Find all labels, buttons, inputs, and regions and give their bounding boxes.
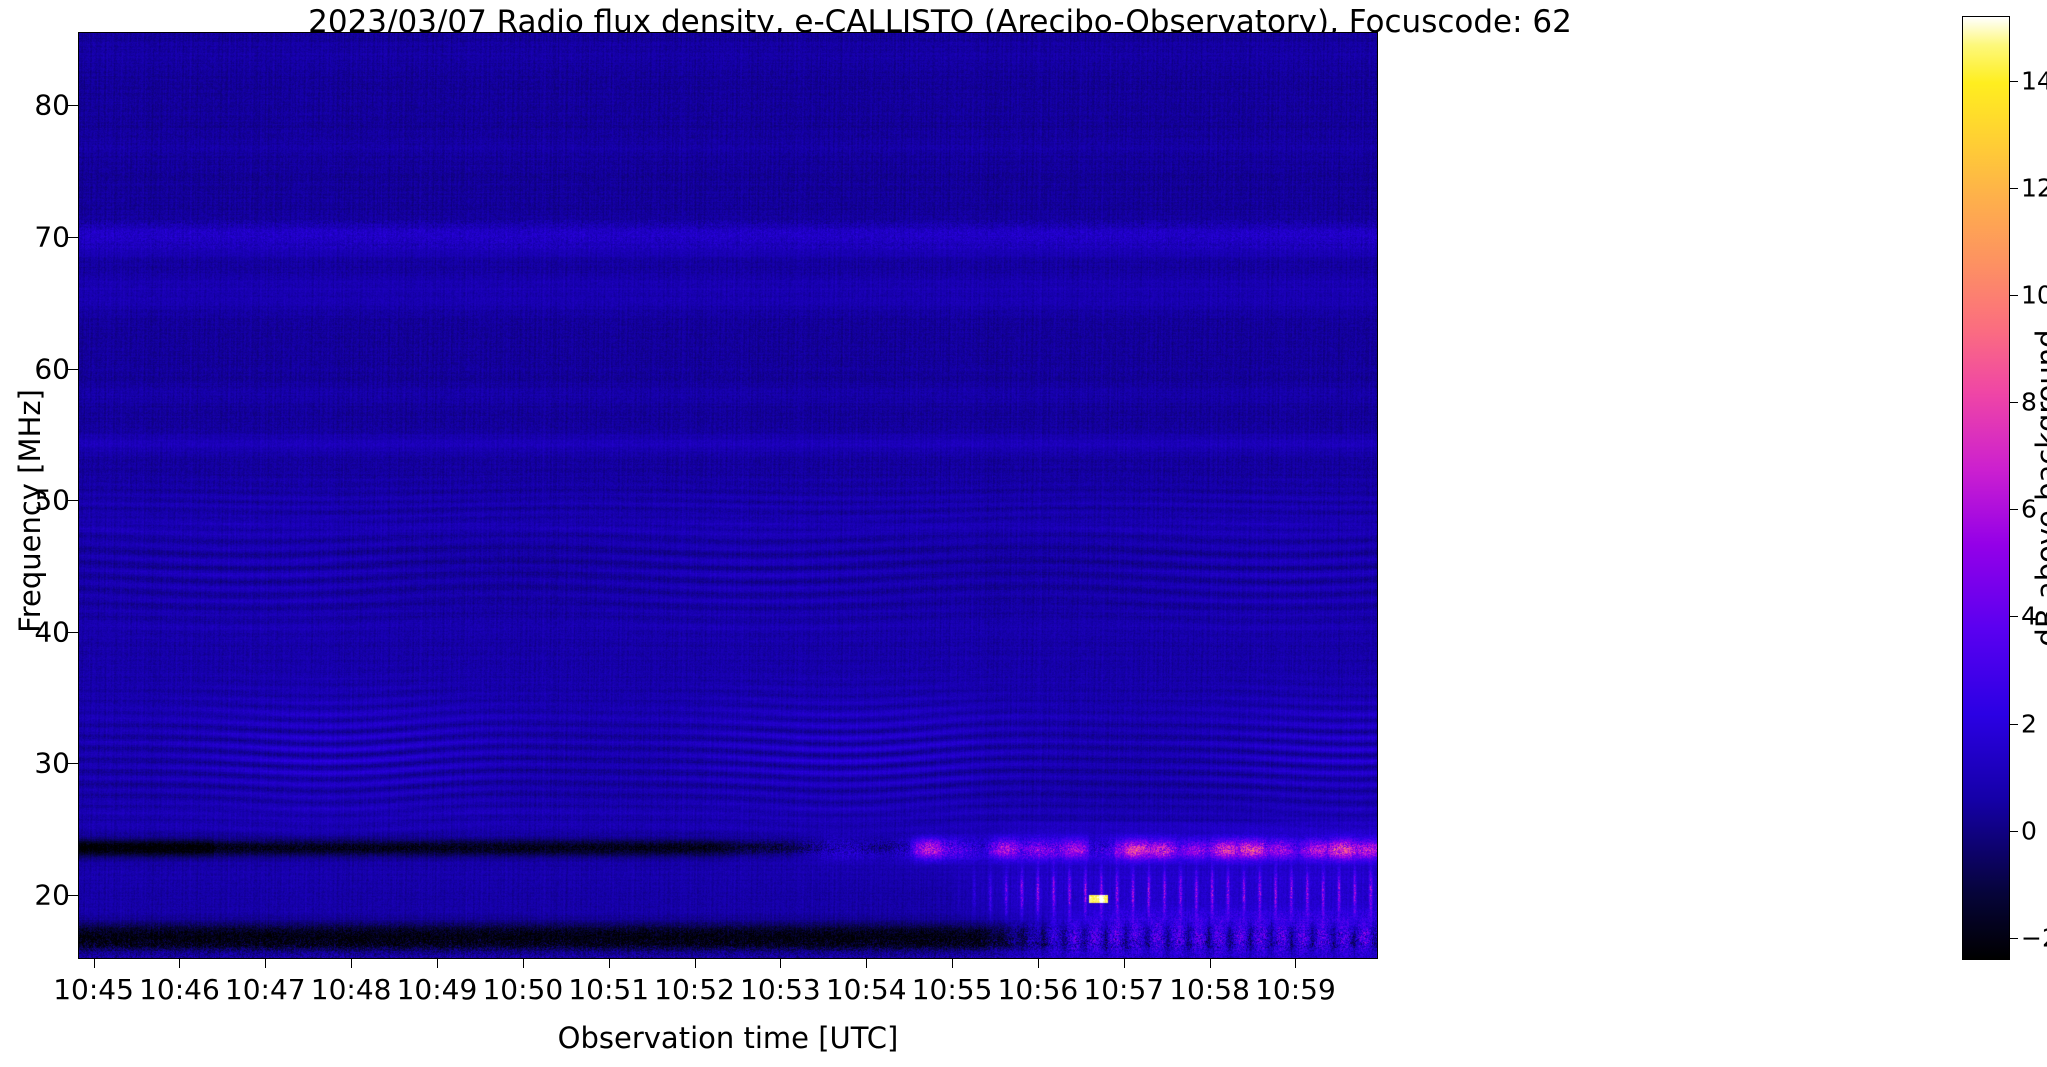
colorbar-tick-label: 10 (2021, 281, 2047, 310)
y-axis-tick-label: 30 (34, 747, 70, 780)
x-axis-tick-mark (780, 958, 781, 968)
x-axis-tick-label: 10:45 (53, 973, 134, 1006)
x-axis-tick-mark (952, 958, 953, 968)
colorbar-tick-label: −2 (2021, 923, 2047, 952)
colorbar-tick-mark (2009, 831, 2018, 832)
x-axis-tick-label: 10:55 (912, 973, 993, 1006)
x-axis-tick-label: 10:56 (998, 973, 1079, 1006)
y-axis-tick-label: 70 (34, 220, 70, 253)
x-axis-tick-mark (1210, 958, 1211, 968)
colorbar-gradient (1963, 17, 2009, 959)
x-axis-label: Observation time [UTC] (78, 1021, 1378, 1055)
x-axis-tick-mark (523, 958, 524, 968)
colorbar-label: dB above background (2030, 329, 2047, 646)
x-axis-tick-mark (437, 958, 438, 968)
colorbar-tick-mark (2009, 402, 2018, 403)
x-axis-tick-label: 10:57 (1083, 973, 1164, 1006)
colorbar-tick-label: 2 (2021, 709, 2037, 738)
x-axis-tick-mark (609, 958, 610, 968)
x-axis-tick-mark (866, 958, 867, 968)
x-axis-tick-label: 10:53 (740, 973, 821, 1006)
y-axis-tick-label: 20 (34, 878, 70, 911)
colorbar-tick-mark (2009, 188, 2018, 189)
x-axis-tick-mark (695, 958, 696, 968)
colorbar-tick-label: 0 (2021, 816, 2037, 845)
x-axis-tick-mark (351, 958, 352, 968)
x-axis-tick-mark (1038, 958, 1039, 968)
x-axis-tick-label: 10:51 (568, 973, 649, 1006)
spectrogram-axes[interactable] (78, 32, 1378, 959)
x-axis-tick-mark (1124, 958, 1125, 968)
x-axis-tick-mark (179, 958, 180, 968)
x-axis-tick-mark (94, 958, 95, 968)
x-axis-tick-mark (265, 958, 266, 968)
colorbar-tick-mark (2009, 81, 2018, 82)
colorbar-tick-mark (2009, 616, 2018, 617)
x-axis-tick-label: 10:50 (482, 973, 563, 1006)
colorbar-tick-mark (2009, 295, 2018, 296)
figure-canvas: 2023/03/07 Radio flux density, e-CALLIST… (0, 0, 2047, 1067)
x-axis-tick-label: 10:47 (225, 973, 306, 1006)
colorbar-tick-mark (2009, 724, 2018, 725)
y-axis-tick-label: 80 (34, 89, 70, 122)
y-axis-label: Frequency [MHz] (13, 331, 47, 691)
x-axis-tick-label: 10:46 (139, 973, 220, 1006)
x-axis-tick-label: 10:48 (311, 973, 392, 1006)
x-axis-tick-mark (1295, 958, 1296, 968)
colorbar-tick-label: 12 (2021, 174, 2047, 203)
x-axis-tick-label: 10:52 (654, 973, 735, 1006)
colorbar-tick-label: 14 (2021, 67, 2047, 96)
x-axis-tick-label: 10:49 (397, 973, 478, 1006)
x-axis-tick-label: 10:58 (1169, 973, 1250, 1006)
x-axis-tick-label: 10:54 (826, 973, 907, 1006)
spectrogram-image (79, 33, 1377, 958)
x-axis-tick-label: 10:59 (1255, 973, 1336, 1006)
colorbar[interactable] (1962, 16, 2010, 960)
colorbar-tick-mark (2009, 509, 2018, 510)
colorbar-tick-mark (2009, 938, 2018, 939)
